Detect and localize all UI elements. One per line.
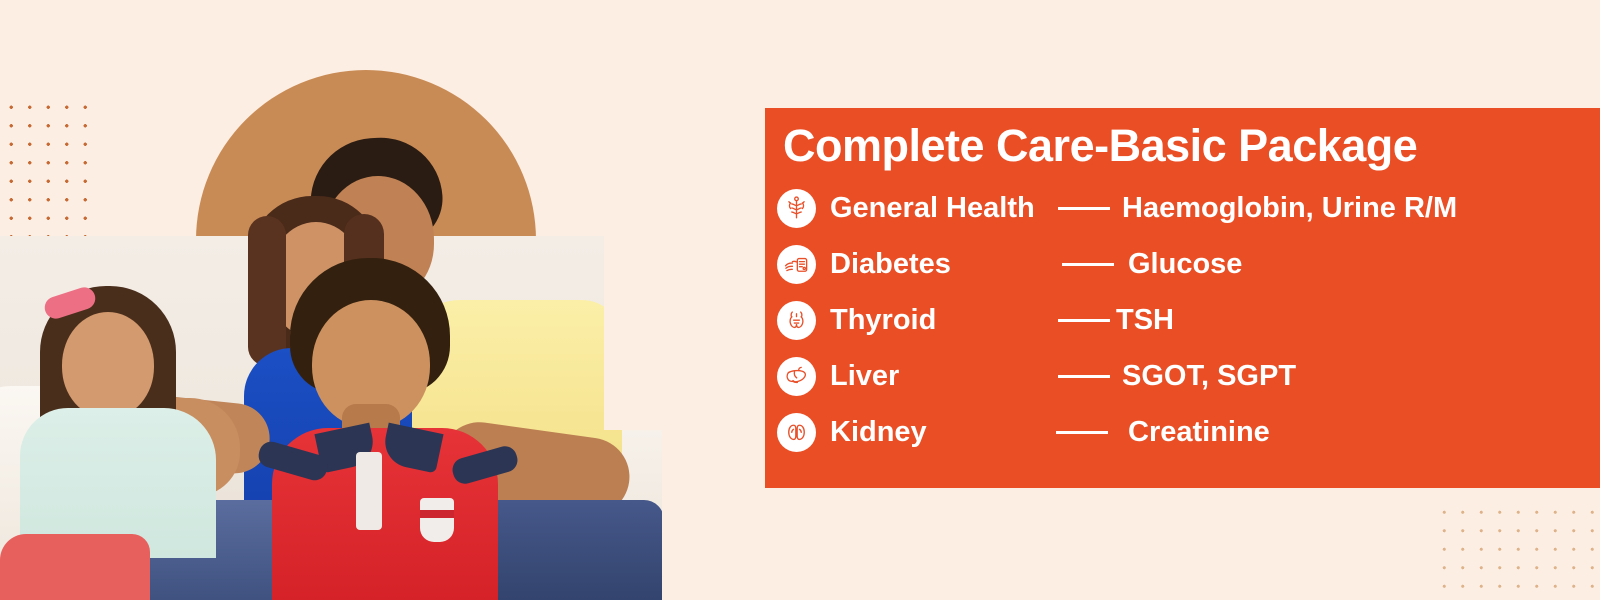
- package-row-label: Kidney: [830, 415, 1058, 449]
- mother-hair-strand-left: [248, 216, 286, 366]
- health-package-banner: Complete Care-Basic Package General Heal: [0, 0, 1600, 600]
- package-row-thyroid: Thyroid TSH: [775, 292, 1600, 348]
- package-row-label: Liver: [830, 359, 1058, 393]
- dot-pattern-bottom-right: [1432, 500, 1600, 592]
- package-row-label: Diabetes: [830, 247, 1058, 281]
- package-panel: Complete Care-Basic Package General Heal: [765, 108, 1600, 488]
- package-row-diabetes: Diabetes Glucose: [775, 236, 1600, 292]
- package-row-value: SGOT, SGPT: [1122, 359, 1600, 393]
- boy-badge: [420, 498, 454, 542]
- kidney-icon: [777, 413, 816, 452]
- package-row-label: Thyroid: [830, 303, 1058, 337]
- package-title: Complete Care-Basic Package: [783, 116, 1417, 176]
- caduceus-icon: [777, 189, 816, 228]
- thyroid-icon: [777, 301, 816, 340]
- glucometer-icon: [777, 245, 816, 284]
- row-separator-dash: [1056, 431, 1108, 434]
- package-row-value: Glucose: [1128, 247, 1600, 281]
- package-test-list: General Health Haemoglobin, Urine R/M: [775, 180, 1600, 460]
- boy-badge-stripe: [420, 510, 454, 518]
- girl-pants: [0, 534, 150, 600]
- row-separator-dash: [1058, 207, 1110, 210]
- row-separator-dash: [1062, 263, 1114, 266]
- package-row-kidney: Kidney Creatinine: [775, 404, 1600, 460]
- family-photo-area: [0, 0, 662, 600]
- row-separator-dash: [1058, 375, 1110, 378]
- package-row-liver: Liver SGOT, SGPT: [775, 348, 1600, 404]
- liver-icon: [777, 357, 816, 396]
- boy-placket: [356, 452, 382, 530]
- package-row-label: General Health: [830, 191, 1060, 225]
- photo-edge-mask: [604, 0, 662, 430]
- girl-face: [62, 312, 154, 418]
- row-separator-dash: [1058, 319, 1110, 322]
- package-row-value: Creatinine: [1128, 415, 1600, 449]
- package-row-value: Haemoglobin, Urine R/M: [1122, 191, 1600, 225]
- package-row-value: TSH: [1116, 303, 1600, 337]
- package-row-general-health: General Health Haemoglobin, Urine R/M: [775, 180, 1600, 236]
